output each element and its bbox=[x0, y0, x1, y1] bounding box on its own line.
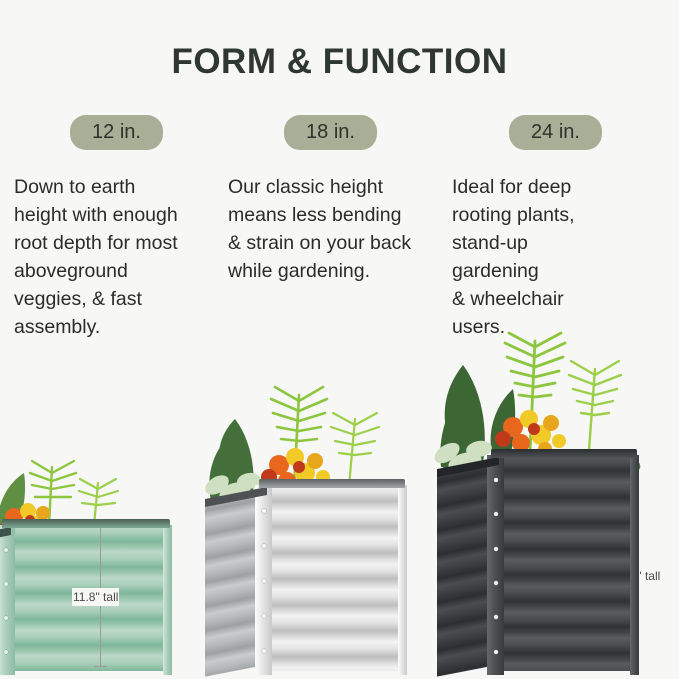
rivet bbox=[262, 649, 266, 653]
dimension-label-12in: 11.8" tall bbox=[72, 588, 119, 606]
rivet bbox=[494, 512, 498, 516]
page-title: FORM & FUNCTION bbox=[0, 42, 679, 82]
planter-rim bbox=[259, 479, 405, 488]
rivet bbox=[262, 544, 266, 548]
rivet bbox=[494, 547, 498, 551]
product-image-24in: 23.6" tall bbox=[437, 339, 637, 679]
rivet bbox=[262, 614, 266, 618]
desc-line: stand-up bbox=[452, 229, 667, 257]
size-badge-18in: 18 in. bbox=[284, 115, 377, 150]
rivet bbox=[262, 579, 266, 583]
feature-column-18in: 18 in. Our classic height means less ben… bbox=[228, 115, 433, 285]
planter-box-24in bbox=[437, 456, 637, 671]
planter-corner-post bbox=[0, 525, 15, 675]
desc-line: root depth for most bbox=[14, 229, 219, 257]
desc-line: aboveground bbox=[14, 257, 219, 285]
desc-line: gardening bbox=[452, 257, 667, 285]
badge-row-18in: 18 in. bbox=[228, 115, 433, 150]
size-badge-24in: 24 in. bbox=[509, 115, 602, 150]
rivet-column bbox=[4, 533, 8, 669]
planter-box-18in bbox=[205, 486, 405, 671]
planter-front-panel bbox=[493, 456, 637, 671]
rivet bbox=[4, 650, 8, 654]
desc-line: & wheelchair bbox=[452, 285, 667, 313]
product-image-12in: 11.8" tall bbox=[0, 389, 170, 679]
desc-line: Ideal for deep bbox=[452, 173, 667, 201]
planter-corner-post bbox=[255, 485, 272, 675]
dimension-cap-bottom bbox=[94, 666, 107, 667]
rivet bbox=[4, 582, 8, 586]
desc-line: height with enough bbox=[14, 201, 219, 229]
badge-row-12in: 12 in. bbox=[14, 115, 219, 150]
desc-line: rooting plants, bbox=[452, 201, 667, 229]
product-image-18in: 17.7" tall bbox=[205, 369, 405, 679]
feature-description-24in: Ideal for deep rooting plants, stand-up … bbox=[452, 173, 667, 341]
planter-corner-post bbox=[163, 525, 172, 675]
planter-corner-post bbox=[398, 485, 407, 675]
desc-line: Down to earth bbox=[14, 173, 219, 201]
badge-row-24in: 24 in. bbox=[452, 115, 667, 150]
desc-line: while gardening. bbox=[228, 257, 433, 285]
planter-front-panel bbox=[261, 486, 405, 671]
planter-rim bbox=[491, 449, 637, 458]
rivet bbox=[494, 581, 498, 585]
product-comparison-scene: 11.8" tall bbox=[0, 330, 679, 679]
planter-rim bbox=[2, 519, 170, 528]
rivet bbox=[4, 616, 8, 620]
desc-line: & strain on your back bbox=[228, 229, 433, 257]
feature-description-18in: Our classic height means less bending & … bbox=[228, 173, 433, 285]
feature-description-12in: Down to earth height with enough root de… bbox=[14, 173, 219, 341]
planter-corner-post bbox=[630, 455, 639, 675]
rivet bbox=[494, 615, 498, 619]
feature-column-12in: 12 in. Down to earth height with enough … bbox=[14, 115, 219, 341]
rivet-column bbox=[262, 493, 266, 669]
planter-corner-post bbox=[487, 455, 504, 675]
rivet bbox=[494, 478, 498, 482]
desc-line: means less bending bbox=[228, 201, 433, 229]
rivet-column bbox=[494, 463, 498, 669]
rivet bbox=[262, 509, 266, 513]
feature-column-24in: 24 in. Ideal for deep rooting plants, st… bbox=[452, 115, 667, 341]
desc-line: Our classic height bbox=[228, 173, 433, 201]
rivet bbox=[494, 650, 498, 654]
size-badge-12in: 12 in. bbox=[70, 115, 163, 150]
desc-line: veggies, & fast bbox=[14, 285, 219, 313]
rivet bbox=[4, 548, 8, 552]
